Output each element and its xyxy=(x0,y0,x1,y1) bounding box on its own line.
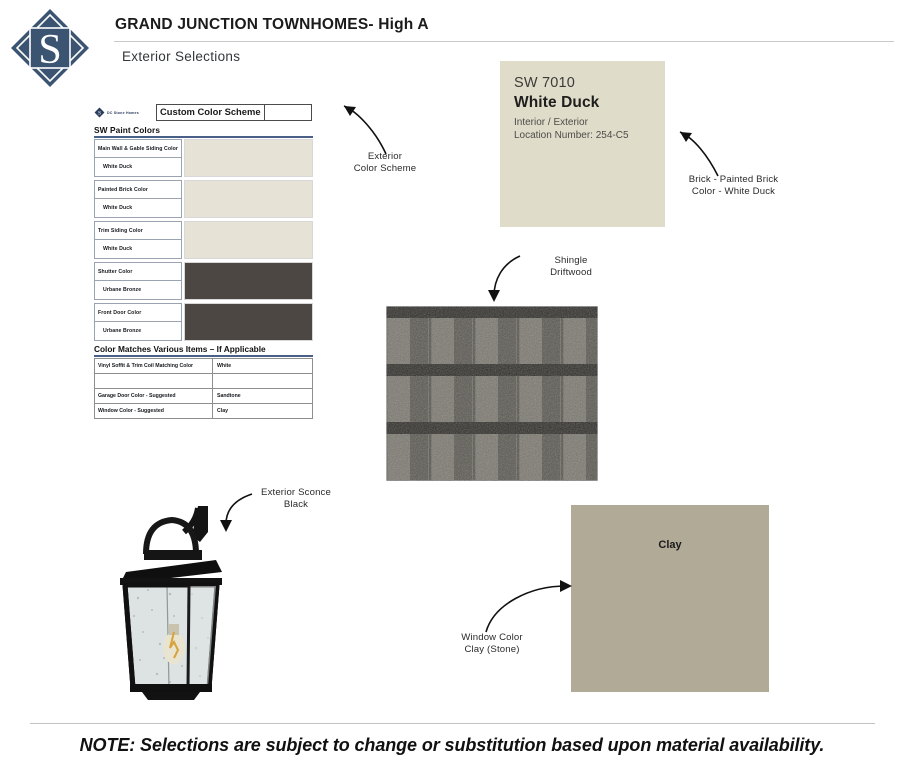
logo-letter: S xyxy=(38,27,61,73)
table-row: Window Color - Suggested Clay xyxy=(95,404,312,419)
paint-color-name: White Duck xyxy=(94,199,182,218)
table-row: Vinyl Soffit & Trim Coil Matching Color … xyxy=(95,359,312,374)
paint-row-group: Front Door Color Urbane Bronze xyxy=(94,303,313,341)
paint-swatch xyxy=(184,303,313,341)
section-underline xyxy=(94,136,313,138)
sw-color-name: White Duck xyxy=(514,94,665,112)
brand-name: DC Stone Homes xyxy=(107,111,139,115)
match-value xyxy=(213,374,312,388)
paint-item-label: Front Door Color xyxy=(94,303,182,322)
paint-row-group: Shutter Color Urbane Bronze xyxy=(94,262,313,300)
table-row: Garage Door Color - Suggested Sandtone xyxy=(95,389,312,404)
sw-location-number: Location Number: 254-C5 xyxy=(514,130,665,141)
custom-color-scheme-input[interactable] xyxy=(265,104,312,121)
sw-color-usage: Interior / Exterior xyxy=(514,117,665,128)
color-matches-table: Vinyl Soffit & Trim Coil Matching Color … xyxy=(94,358,313,419)
paint-color-name: White Duck xyxy=(94,240,182,259)
paint-item-label: Painted Brick Color xyxy=(94,180,182,199)
shingle-sample-image xyxy=(386,306,598,481)
company-logo: S xyxy=(8,6,92,90)
paint-swatch xyxy=(184,262,313,300)
paint-item-label: Shutter Color xyxy=(94,262,182,281)
brand-diamond-icon: S xyxy=(94,107,105,118)
color-matches-title: Color Matches Various Items – If Applica… xyxy=(94,344,313,354)
match-value: White xyxy=(213,359,312,373)
paint-color-name: Urbane Bronze xyxy=(94,281,182,300)
clay-swatch-label: Clay xyxy=(571,539,769,551)
paint-swatch xyxy=(184,221,313,259)
svg-text:S: S xyxy=(98,111,101,117)
arrow-to-sconce-image xyxy=(208,490,268,538)
arrow-to-color-scheme xyxy=(330,96,440,158)
paint-color-name: Urbane Bronze xyxy=(94,322,182,341)
match-value: Clay xyxy=(213,404,312,418)
table-row xyxy=(95,374,312,389)
match-key: Garage Door Color - Suggested xyxy=(95,389,213,403)
paint-item-label: Trim Siding Color xyxy=(94,221,182,240)
paint-row-group: Trim Siding Color White Duck xyxy=(94,221,313,259)
arrow-to-brick-swatch xyxy=(668,122,778,180)
sw-paint-colors-title: SW Paint Colors xyxy=(94,125,313,135)
clay-color-swatch: Clay xyxy=(571,505,769,692)
sw-color-code: SW 7010 xyxy=(514,75,665,91)
match-key: Vinyl Soffit & Trim Coil Matching Color xyxy=(95,359,213,373)
match-key: Window Color - Suggested xyxy=(95,404,213,418)
footer-note: NOTE: Selections are subject to change o… xyxy=(0,735,904,756)
matches-underline xyxy=(94,355,313,357)
paint-row-group: Main Wall & Gable Siding Color White Duc… xyxy=(94,139,313,177)
paint-color-name: White Duck xyxy=(94,158,182,177)
arrow-to-shingle-swatch xyxy=(486,252,556,308)
paint-row-group: Painted Brick Color White Duck xyxy=(94,180,313,218)
arrow-to-clay-swatch xyxy=(480,578,580,636)
paint-item-label: Main Wall & Gable Siding Color xyxy=(94,139,182,158)
match-key xyxy=(95,374,213,388)
footer-divider xyxy=(30,723,875,724)
paint-selection-table: S DC Stone Homes Custom Color Scheme SW … xyxy=(94,104,313,419)
page-subtitle: Exterior Selections xyxy=(122,49,240,64)
builder-brand: S DC Stone Homes xyxy=(94,107,156,118)
table-header-row: S DC Stone Homes Custom Color Scheme xyxy=(94,104,313,121)
paint-swatch xyxy=(184,139,313,177)
sw-color-card: SW 7010 White Duck Interior / Exterior L… xyxy=(500,61,665,227)
custom-color-scheme-label: Custom Color Scheme xyxy=(156,104,265,121)
match-value: Sandtone xyxy=(213,389,312,403)
paint-swatch xyxy=(184,180,313,218)
page-title: GRAND JUNCTION TOWNHOMES- High A xyxy=(115,16,429,34)
header-divider xyxy=(114,41,894,42)
